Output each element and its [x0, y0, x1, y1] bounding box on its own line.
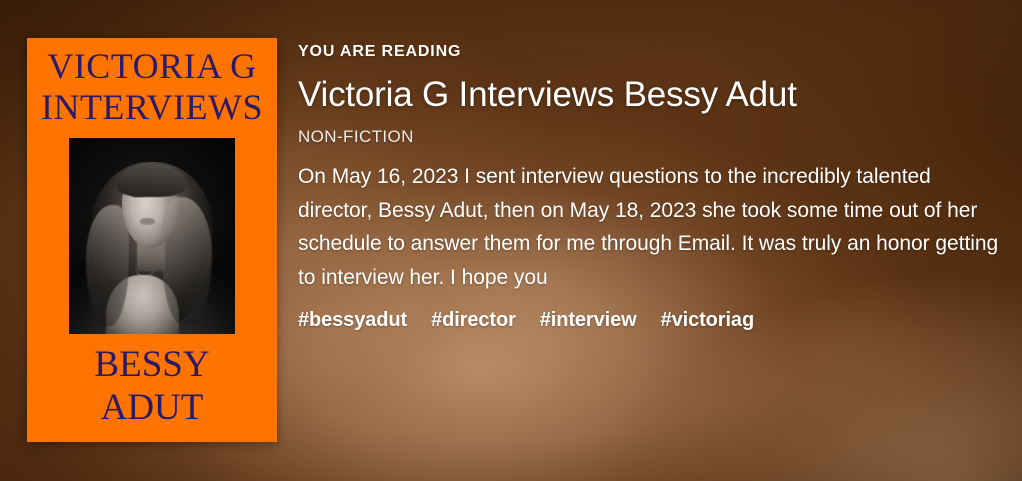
story-tag[interactable]: #victoriag — [661, 309, 754, 332]
story-info: YOU ARE READING Victoria G Interviews Be… — [298, 42, 1004, 332]
cover-title: VICTORIA G INTERVIEWS — [27, 46, 277, 128]
cover-author-line-1: BESSY — [27, 344, 277, 387]
story-tag[interactable]: #interview — [540, 309, 637, 332]
cover-title-line-2: INTERVIEWS — [27, 87, 277, 128]
cover-portrait-photo — [69, 138, 235, 334]
cover-title-line-1: VICTORIA G — [27, 46, 277, 87]
story-title[interactable]: Victoria G Interviews Bessy Adut — [298, 75, 1004, 116]
story-category[interactable]: NON-FICTION — [298, 127, 1004, 147]
cover-author-line-2: ADUT — [27, 387, 277, 430]
story-tag-list: #bessyadut #director #interview #victori… — [298, 309, 1004, 332]
story-tag[interactable]: #bessyadut — [298, 309, 407, 332]
story-tag[interactable]: #director — [431, 309, 516, 332]
story-cover-thumbnail[interactable]: VICTORIA G INTERVIEWS BESS — [27, 38, 277, 442]
story-description: On May 16, 2023 I sent interview questio… — [298, 160, 1004, 294]
portrait-illustration — [69, 138, 235, 334]
cover-author: BESSY ADUT — [27, 344, 277, 430]
you-are-reading-label: YOU ARE READING — [298, 42, 1004, 61]
story-reading-banner: VICTORIA G INTERVIEWS BESS — [0, 0, 1022, 481]
portrait-film-grain — [69, 138, 235, 334]
